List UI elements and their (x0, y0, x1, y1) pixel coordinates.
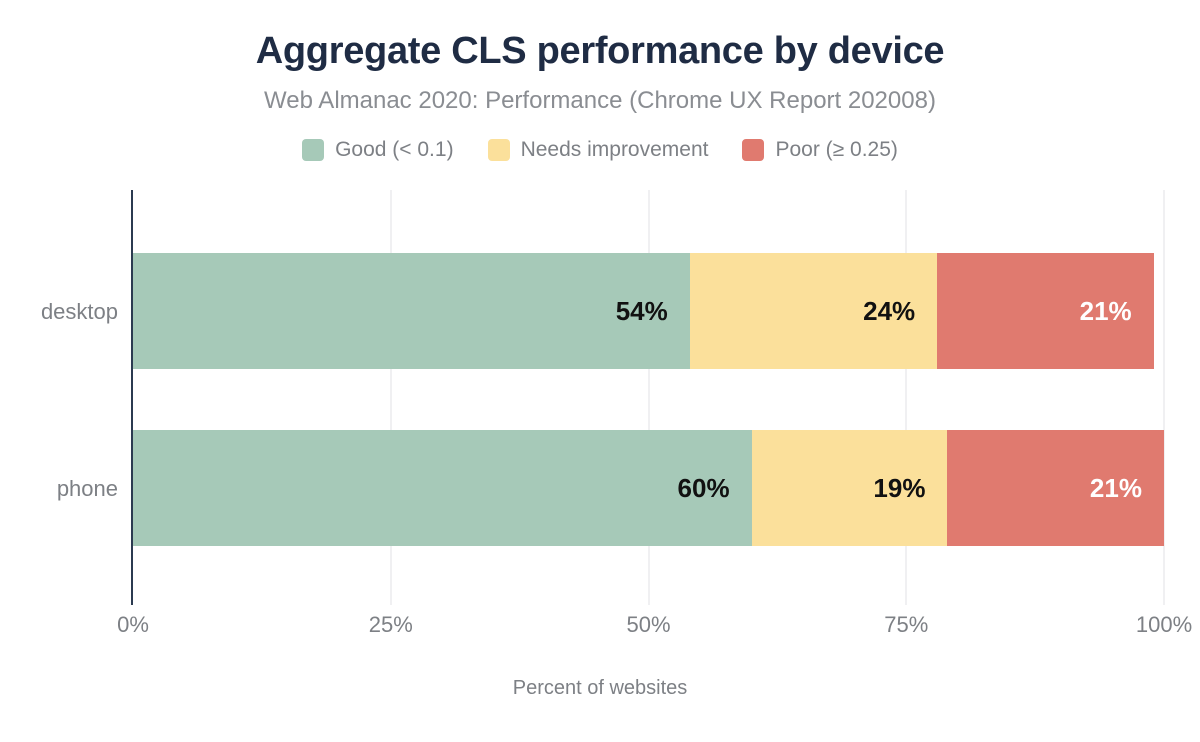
x-tick-label: 100% (1094, 612, 1200, 638)
bar-value-label: 54% (616, 296, 690, 326)
chart-legend: Good (< 0.1)Needs improvementPoor (≥ 0.2… (0, 138, 1200, 162)
legend-item[interactable]: Poor (≥ 0.25) (742, 138, 897, 162)
x-tick-label: 75% (836, 612, 976, 638)
legend-item-label: Good (< 0.1) (335, 138, 453, 162)
legend-item-label: Poor (≥ 0.25) (775, 138, 897, 162)
bar-value-label: 21% (1090, 473, 1164, 503)
bar-segment[interactable]: 24% (690, 253, 937, 369)
plot-area: 54%24%21%60%19%21% (133, 190, 1164, 605)
chart-title: Aggregate CLS performance by device (0, 28, 1200, 74)
x-tick-label: 0% (63, 612, 203, 638)
legend-swatch-icon (302, 139, 324, 161)
chart-container: Aggregate CLS performance by device Web … (0, 0, 1200, 742)
bar-segment[interactable]: 60% (133, 430, 752, 546)
legend-item-label: Needs improvement (521, 138, 709, 162)
bar-row: 60%19%21% (133, 430, 1164, 546)
x-tick-label: 25% (321, 612, 461, 638)
y-category-label: phone (0, 476, 118, 502)
bar-segment[interactable]: 54% (133, 253, 690, 369)
bar-segment[interactable]: 21% (937, 253, 1154, 369)
legend-item[interactable]: Needs improvement (488, 138, 709, 162)
bar-value-label: 24% (863, 296, 937, 326)
legend-swatch-icon (488, 139, 510, 161)
bar-value-label: 60% (678, 473, 752, 503)
bar-value-label: 21% (1080, 296, 1154, 326)
chart-subtitle: Web Almanac 2020: Performance (Chrome UX… (0, 86, 1200, 116)
bar-segment[interactable]: 21% (947, 430, 1164, 546)
bar-row: 54%24%21% (133, 253, 1164, 369)
bar-segment[interactable]: 19% (752, 430, 948, 546)
x-axis-title: Percent of websites (0, 676, 1200, 700)
legend-swatch-icon (742, 139, 764, 161)
legend-item[interactable]: Good (< 0.1) (302, 138, 453, 162)
y-category-label: desktop (0, 299, 118, 325)
x-tick-label: 50% (579, 612, 719, 638)
bars-group: 54%24%21%60%19%21% (133, 190, 1164, 605)
bar-value-label: 19% (873, 473, 947, 503)
